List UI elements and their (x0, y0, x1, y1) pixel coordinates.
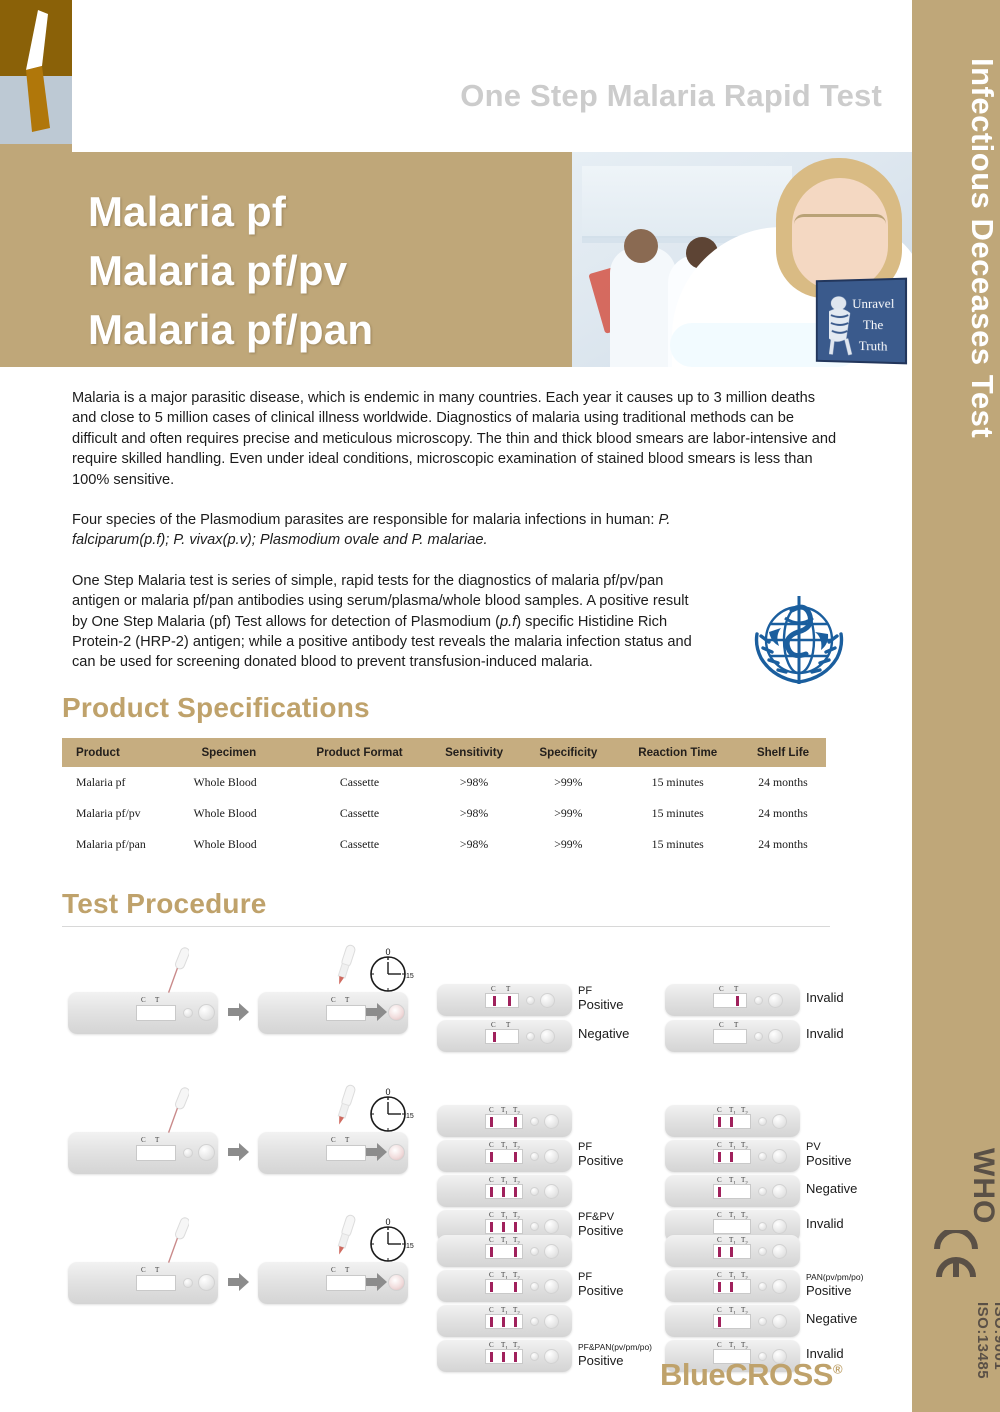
band-c (490, 1352, 493, 1362)
result-window (485, 1314, 523, 1329)
paragraph-2: Four species of the Plasmodium parasites… (72, 510, 712, 551)
result-window (485, 1244, 523, 1259)
ce-mark-icon (926, 1230, 986, 1284)
buffer-well (198, 1274, 215, 1291)
cell-r0-c2: Cassette (292, 767, 427, 798)
result-label-value: Negative (578, 1027, 629, 1040)
band-c (718, 1247, 721, 1257)
band-c (493, 1032, 496, 1042)
band-t2 (514, 1282, 517, 1292)
flow-arrow-icon (228, 1272, 250, 1292)
band-c (490, 1222, 493, 1232)
sample-well (530, 1187, 539, 1196)
sample-well (754, 1032, 763, 1041)
result-window (136, 1145, 176, 1161)
result-window (713, 1149, 751, 1164)
buffer-well (544, 1114, 559, 1129)
window-letter-c: C (141, 1266, 146, 1274)
specifications-table: ProductSpecimenProduct FormatSensitivity… (62, 738, 826, 860)
band-c (490, 1117, 493, 1127)
result-label-value: Negative (806, 1182, 857, 1195)
result-label-value: Invalid (806, 1027, 844, 1040)
result-window (713, 1114, 751, 1129)
cell-r2-c2: Cassette (292, 829, 427, 860)
result-label-value: Positive (578, 1154, 624, 1167)
window-letter-t: T (155, 996, 159, 1004)
result-window (485, 993, 519, 1008)
result-label-value: Negative (806, 1312, 857, 1325)
result-cassette: CT1T2 (665, 1105, 800, 1137)
result-window (713, 1244, 751, 1259)
result-label: PF&PAN(pv/pm/po)Positive (578, 1341, 652, 1367)
dropper-bottle-icon (330, 1082, 356, 1140)
cell-r0-c6: 24 months (740, 767, 826, 798)
unravel-the-truth-book: Unravel The Truth (816, 278, 907, 365)
cell-r2-c5: 15 minutes (616, 829, 740, 860)
buffer-well (772, 1314, 787, 1329)
sample-well (530, 1152, 539, 1161)
result-cassette: CT1T2 (437, 1235, 572, 1267)
result-cassette: CT1T2 (665, 1175, 800, 1207)
window-letter-c: C (717, 1236, 722, 1244)
band-c (490, 1152, 493, 1162)
sample-well (526, 1032, 535, 1041)
cell-r2-c4: >99% (521, 829, 615, 860)
test-cassette-device: CT (68, 992, 218, 1034)
band-t1 (730, 1247, 733, 1257)
cell-r1-c6: 24 months (740, 798, 826, 829)
result-window (485, 1149, 523, 1164)
band-t2 (514, 1152, 517, 1162)
table-row: Malaria pf/pvWhole BloodCassette>98%>99%… (62, 798, 826, 829)
result-cassette: CT1T2 (665, 1235, 800, 1267)
column-header-1: Specimen (187, 738, 292, 767)
result-label-value: Positive (578, 1284, 624, 1297)
buffer-well (198, 1144, 215, 1161)
band-t1 (502, 1222, 505, 1232)
buffer-well (772, 1114, 787, 1129)
cell-r1-c4: >99% (521, 798, 615, 829)
iso-certifications: ISO:9001 ISO:13485 (920, 1302, 1000, 1402)
result-label: PF&PVPositive (578, 1211, 624, 1237)
result-window (326, 1005, 366, 1021)
window-letter-c: C (489, 1176, 494, 1184)
result-window (485, 1219, 523, 1234)
result-cassette: CT1T2 (665, 1270, 800, 1302)
registered-mark: ® (833, 1362, 842, 1377)
cell-r0-c5: 15 minutes (616, 767, 740, 798)
band-t1 (730, 1152, 733, 1162)
window-letter-c: C (141, 996, 146, 1004)
hero-title-2: Malaria pf/pv (88, 241, 373, 300)
window-letter-c: C (141, 1136, 146, 1144)
result-label: Negative (806, 1182, 857, 1195)
cell-r0-c4: >99% (521, 767, 615, 798)
procedure-heading: Test Procedure (62, 888, 267, 920)
result-window (485, 1349, 523, 1364)
book-line-3: Truth (848, 335, 898, 357)
buffer-well (544, 1149, 559, 1164)
paragraph-1: Malaria is a major parasitic disease, wh… (72, 388, 842, 490)
cell-r1-c3: >98% (427, 798, 521, 829)
test-cassette-device: CT (68, 1132, 218, 1174)
window-letter-c: C (489, 1141, 494, 1149)
flow-arrow-icon (366, 1272, 388, 1292)
result-label-value: Invalid (806, 1217, 844, 1230)
result-label: Negative (578, 1027, 629, 1040)
result-cassette: CT (437, 1020, 572, 1052)
result-cassette: CT1T2 (437, 1305, 572, 1337)
svg-text:15: 15 (406, 1243, 414, 1250)
bluecross-bar-logo-icon (0, 0, 72, 152)
buffer-well (544, 1184, 559, 1199)
result-cassette: CT (665, 984, 800, 1016)
result-cassette: CT (437, 984, 572, 1016)
cell-r1-c0: Malaria pf/pv (62, 798, 187, 829)
band-c (490, 1247, 493, 1257)
brand-cross: CROSS (725, 1357, 833, 1392)
window-letter-c: C (489, 1236, 494, 1244)
cell-r1-c1: Whole Blood (187, 798, 292, 829)
band-c (490, 1187, 493, 1197)
sidebar-vertical-title: Infectious Deceases Test (912, 58, 1000, 618)
buffer-well (540, 1029, 555, 1044)
result-label-value: Invalid (806, 991, 844, 1004)
column-header-0: Product (62, 738, 187, 767)
band-t2 (514, 1247, 517, 1257)
column-header-3: Sensitivity (427, 738, 521, 767)
paragraph-3: One Step Malaria test is series of simpl… (72, 571, 697, 673)
window-letter-c: C (489, 1341, 494, 1349)
result-label: Negative (806, 1312, 857, 1325)
timer-clock-icon: 015 (366, 948, 414, 996)
band-c (718, 1282, 721, 1292)
hero-photo: Unravel The Truth (572, 152, 912, 367)
table-row: Malaria pfWhole BloodCassette>98%>99%15 … (62, 767, 826, 798)
result-label-value: Positive (806, 1284, 863, 1297)
window-letter-t: T (734, 985, 738, 993)
result-cassette: CT1T2 (437, 1105, 572, 1137)
book-line-2: The (848, 314, 898, 336)
column-header-5: Reaction Time (616, 738, 740, 767)
svg-text:0: 0 (385, 1218, 390, 1227)
band-t1 (730, 1117, 733, 1127)
cell-r2-c0: Malaria pf/pan (62, 829, 187, 860)
iso-line-1: ISO:9001 (991, 1302, 1000, 1370)
buffer-well (544, 1314, 559, 1329)
buffer-well (768, 1029, 783, 1044)
result-window (713, 1184, 751, 1199)
table-row: Malaria pf/panWhole BloodCassette>98%>99… (62, 829, 826, 860)
band-t2 (514, 1317, 517, 1327)
result-window (713, 993, 747, 1008)
result-cassette: CT1T2 (437, 1140, 572, 1172)
window-letter-c: C (489, 1211, 494, 1219)
sample-well (530, 1247, 539, 1256)
body-copy: Malaria is a major parasitic disease, wh… (72, 388, 842, 693)
cell-r2-c1: Whole Blood (187, 829, 292, 860)
flow-arrow-icon (228, 1002, 250, 1022)
specifications-heading: Product Specifications (62, 692, 370, 724)
cell-r0-c0: Malaria pf (62, 767, 187, 798)
hero-band: Malaria pf Malaria pf/pv Malaria pf/pan … (0, 152, 912, 367)
buffer-well (544, 1244, 559, 1259)
band-t1 (730, 1282, 733, 1292)
procedure-divider (62, 926, 830, 927)
buffer-well (198, 1004, 215, 1021)
result-window (485, 1279, 523, 1294)
result-cassette: CT1T2 (437, 1175, 572, 1207)
right-sidebar: Infectious Deceases Test WHO ISO:9001 IS… (912, 0, 1000, 1412)
window-letter-c: C (717, 1306, 722, 1314)
cell-r2-c6: 24 months (740, 829, 826, 860)
window-letter-c: C (717, 1106, 722, 1114)
sample-well (183, 1278, 193, 1288)
sample-well (530, 1352, 539, 1361)
result-label: PFPositive (578, 985, 624, 1011)
window-letter-c: C (717, 1176, 722, 1184)
window-letter-c: C (719, 1021, 724, 1029)
band-t1 (502, 1352, 505, 1362)
sample-well (758, 1117, 767, 1126)
cell-r0-c3: >98% (427, 767, 521, 798)
window-letter-t: T (506, 985, 510, 993)
result-label: Invalid (806, 1027, 844, 1040)
band-t2 (514, 1222, 517, 1232)
cell-r1-c5: 15 minutes (616, 798, 740, 829)
sample-well (530, 1117, 539, 1126)
result-window (326, 1275, 366, 1291)
result-cassette: CT1T2 (665, 1305, 800, 1337)
band-t1 (502, 1317, 505, 1327)
window-letter-c: C (717, 1341, 722, 1349)
pipette-icon (163, 1084, 189, 1142)
buffer-well (772, 1279, 787, 1294)
brand-blue: Blue (660, 1357, 725, 1392)
window-letter-c: C (489, 1306, 494, 1314)
band-c (490, 1282, 493, 1292)
who-emblem-icon (745, 590, 853, 688)
window-letter-c: C (719, 985, 724, 993)
hero-title-1: Malaria pf (88, 182, 373, 241)
window-letter-t: T (506, 1021, 510, 1029)
iso-line-2: ISO:13485 (974, 1302, 991, 1379)
bluecross-brand-logo: BlueCROSS® (660, 1357, 842, 1393)
sample-well (758, 1317, 767, 1326)
who-label: WHO (912, 1148, 1000, 1224)
band-t2 (514, 1117, 517, 1127)
result-label-value: Positive (578, 1224, 624, 1237)
window-letter-c: C (489, 1106, 494, 1114)
timer-clock-icon: 015 (366, 1088, 414, 1136)
result-label-value: Positive (806, 1154, 852, 1167)
result-label: PVPositive (806, 1141, 852, 1167)
pipette-icon (163, 944, 189, 1002)
sample-well (526, 996, 535, 1005)
band-c (490, 1317, 493, 1327)
buffer-well (388, 1274, 405, 1291)
svg-text:15: 15 (406, 1113, 414, 1120)
sample-well (530, 1222, 539, 1231)
test-procedure-diagram: CTCT015CTPFPositiveCTNegativeCTInvalidCT… (0, 930, 912, 1360)
sample-well (183, 1008, 193, 1018)
window-letter-c: C (491, 985, 496, 993)
buffer-well (388, 1004, 405, 1021)
band-c (718, 1187, 721, 1197)
paragraph-3-pf: p.f (500, 614, 516, 630)
cell-r0-c1: Whole Blood (187, 767, 292, 798)
window-letter-t: T (155, 1266, 159, 1274)
dropper-bottle-icon (330, 942, 356, 1000)
result-label: PAN(pv/pm/po)Positive (806, 1271, 863, 1297)
svg-text:15: 15 (406, 973, 414, 980)
result-label: PFPositive (578, 1271, 624, 1297)
result-label-value: Positive (578, 998, 624, 1011)
sample-well (754, 996, 763, 1005)
result-label: Invalid (806, 991, 844, 1004)
buffer-well (544, 1219, 559, 1234)
table-header-row: ProductSpecimenProduct FormatSensitivity… (62, 738, 826, 767)
pipette-icon (163, 1214, 189, 1272)
buffer-well (772, 1244, 787, 1259)
result-window (713, 1314, 751, 1329)
buffer-well (544, 1279, 559, 1294)
svg-text:0: 0 (385, 1088, 390, 1097)
dropper-bottle-icon (330, 1212, 356, 1270)
buffer-well (544, 1349, 559, 1364)
flow-arrow-icon (366, 1142, 388, 1162)
band-t1 (502, 1187, 505, 1197)
band-c (493, 996, 496, 1006)
sample-well (183, 1148, 193, 1158)
sample-well (758, 1222, 767, 1231)
hero-title-3: Malaria pf/pan (88, 300, 373, 359)
paragraph-2-lead: Four species of the Plasmodium parasites… (72, 512, 658, 528)
result-window (485, 1029, 519, 1044)
result-window (326, 1145, 366, 1161)
header-strip: One Step Malaria Rapid Test (72, 0, 912, 152)
page-title: One Step Malaria Rapid Test (72, 78, 882, 114)
flow-arrow-icon (228, 1142, 250, 1162)
band-t (736, 996, 739, 1006)
window-letter-t: T (155, 1136, 159, 1144)
band-c (718, 1117, 721, 1127)
result-cassette: CT1T2 (437, 1270, 572, 1302)
result-window (713, 1219, 751, 1234)
result-label-value: Positive (578, 1354, 652, 1367)
flow-arrow-icon (366, 1002, 388, 1022)
buffer-well (772, 1219, 787, 1234)
sample-well (758, 1282, 767, 1291)
result-window (713, 1279, 751, 1294)
band-t2 (514, 1187, 517, 1197)
band-t (508, 996, 511, 1006)
window-letter-t: T (734, 1021, 738, 1029)
result-window (485, 1184, 523, 1199)
hero-product-titles: Malaria pf Malaria pf/pv Malaria pf/pan (88, 182, 373, 359)
test-cassette-device: CT (68, 1262, 218, 1304)
buffer-well (772, 1149, 787, 1164)
window-letter-c: C (717, 1271, 722, 1279)
result-label: PFPositive (578, 1141, 624, 1167)
svg-text:0: 0 (385, 948, 390, 957)
band-t2 (514, 1352, 517, 1362)
sample-well (758, 1247, 767, 1256)
sample-well (530, 1317, 539, 1326)
result-window (485, 1114, 523, 1129)
timer-clock-icon: 015 (366, 1218, 414, 1266)
column-header-4: Specificity (521, 738, 615, 767)
result-window (136, 1005, 176, 1021)
buffer-well (388, 1144, 405, 1161)
window-letter-c: C (717, 1211, 722, 1219)
band-c (718, 1152, 721, 1162)
result-window (713, 1029, 747, 1044)
result-cassette: CT (665, 1020, 800, 1052)
result-label: Invalid (806, 1217, 844, 1230)
result-cassette: CT1T2 (665, 1140, 800, 1172)
window-letter-c: C (491, 1021, 496, 1029)
window-letter-c: C (717, 1141, 722, 1149)
sample-well (758, 1152, 767, 1161)
buffer-well (540, 993, 555, 1008)
sample-well (530, 1282, 539, 1291)
result-cassette: CT1T2 (437, 1340, 572, 1372)
buffer-well (768, 993, 783, 1008)
buffer-well (772, 1184, 787, 1199)
column-header-6: Shelf Life (740, 738, 826, 767)
book-line-1: Unravel (848, 292, 898, 314)
cell-r1-c2: Cassette (292, 798, 427, 829)
result-window (136, 1275, 176, 1291)
window-letter-c: C (489, 1271, 494, 1279)
cell-r2-c3: >98% (427, 829, 521, 860)
sample-well (758, 1187, 767, 1196)
column-header-2: Product Format (292, 738, 427, 767)
band-c (718, 1317, 721, 1327)
